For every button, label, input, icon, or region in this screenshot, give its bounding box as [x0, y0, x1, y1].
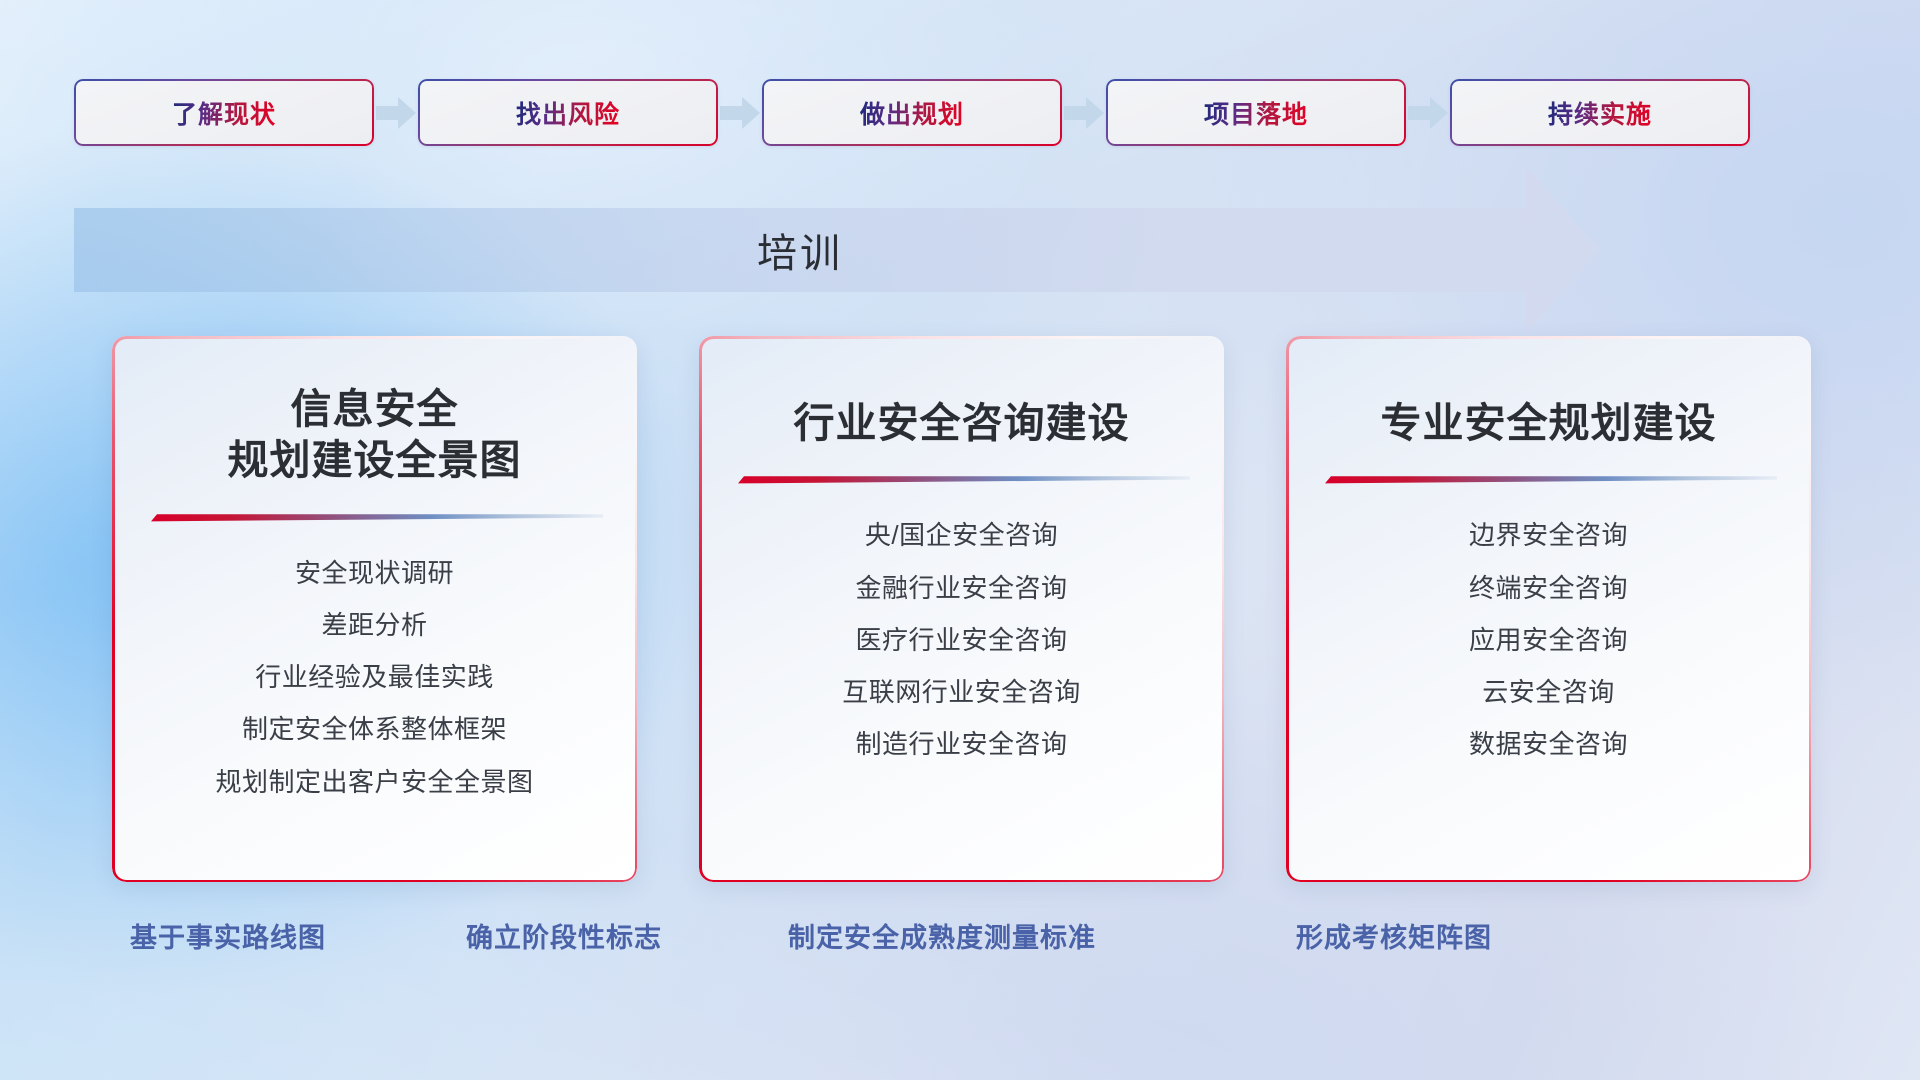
list-item: 安全现状调研: [295, 553, 454, 593]
step-label: 持续实施: [1548, 95, 1652, 131]
training-band-title: 培训: [74, 208, 1526, 292]
step-arrow-icon-2: [718, 79, 762, 146]
list-item: 边界安全咨询: [1469, 515, 1628, 555]
step-arrow-icon-3: [1062, 79, 1106, 146]
list-item: 终端安全咨询: [1469, 568, 1628, 608]
card-industry-security-consulting[interactable]: 行业安全咨询建设: [699, 336, 1224, 882]
card-row: 信息安全 规划建设全景图: [112, 336, 1812, 882]
list-item: 规划制定出客户安全全景图: [215, 762, 533, 802]
step-box-2[interactable]: 找出风险: [418, 79, 718, 146]
step-arrow-icon-4: [1406, 79, 1450, 146]
step-label: 了解现状: [172, 95, 276, 131]
list-item: 制定安全体系整体框架: [242, 709, 507, 749]
step-label: 项目落地: [1204, 95, 1308, 131]
list-item: 行业经验及最佳实践: [255, 657, 494, 697]
list-item: 央/国企安全咨询: [865, 515, 1058, 555]
tapered-gradient-rule-icon: [1321, 475, 1777, 485]
list-item: 制造行业安全咨询: [855, 724, 1067, 764]
card-list: 央/国企安全咨询 金融行业安全咨询 医疗行业安全咨询 互联网行业安全咨询 制造行…: [842, 515, 1081, 764]
card-info-security-blueprint[interactable]: 信息安全 规划建设全景图: [112, 336, 637, 882]
list-item: 应用安全咨询: [1469, 620, 1628, 660]
card-list: 安全现状调研 差距分析 行业经验及最佳实践 制定安全体系整体框架 规划制定出客户…: [215, 553, 533, 802]
step-label: 找出风险: [516, 95, 620, 131]
footer-label-row: 基于事实路线图 确立阶段性标志 制定安全成熟度测量标准 形成考核矩阵图: [0, 916, 1920, 960]
list-item: 云安全咨询: [1482, 672, 1615, 712]
step-box-3[interactable]: 做出规划: [762, 79, 1062, 146]
process-step-strip: 了解现状 找出风险 做出规划 项目落地: [74, 79, 1864, 146]
card-title: 行业安全咨询建设: [794, 398, 1130, 449]
slide-canvas: 了解现状 找出风险 做出规划 项目落地: [0, 0, 1920, 1080]
tapered-gradient-rule-icon: [147, 513, 603, 523]
tapered-gradient-rule-icon: [734, 475, 1190, 485]
list-item: 数据安全咨询: [1469, 724, 1628, 764]
step-arrow-icon-1: [374, 79, 418, 146]
step-box-4[interactable]: 项目落地: [1106, 79, 1406, 146]
card-title: 信息安全 规划建设全景图: [228, 384, 522, 487]
footer-label-2: 确立阶段性标志: [466, 916, 662, 955]
training-band-arrowhead-icon: [1526, 166, 1600, 334]
footer-label-3: 制定安全成熟度测量标准: [788, 916, 1096, 955]
list-item: 差距分析: [321, 605, 427, 645]
card-title: 专业安全规划建设: [1381, 398, 1717, 449]
list-item: 医疗行业安全咨询: [855, 620, 1067, 660]
card-professional-security-planning[interactable]: 专业安全规划建设: [1286, 336, 1811, 882]
card-list: 边界安全咨询 终端安全咨询 应用安全咨询 云安全咨询 数据安全咨询: [1469, 515, 1628, 764]
list-item: 互联网行业安全咨询: [842, 672, 1081, 712]
footer-label-1: 基于事实路线图: [130, 916, 326, 955]
list-item: 金融行业安全咨询: [855, 568, 1067, 608]
step-box-1[interactable]: 了解现状: [74, 79, 374, 146]
footer-label-4: 形成考核矩阵图: [1296, 916, 1492, 955]
step-label: 做出规划: [860, 95, 964, 131]
step-box-5[interactable]: 持续实施: [1450, 79, 1750, 146]
